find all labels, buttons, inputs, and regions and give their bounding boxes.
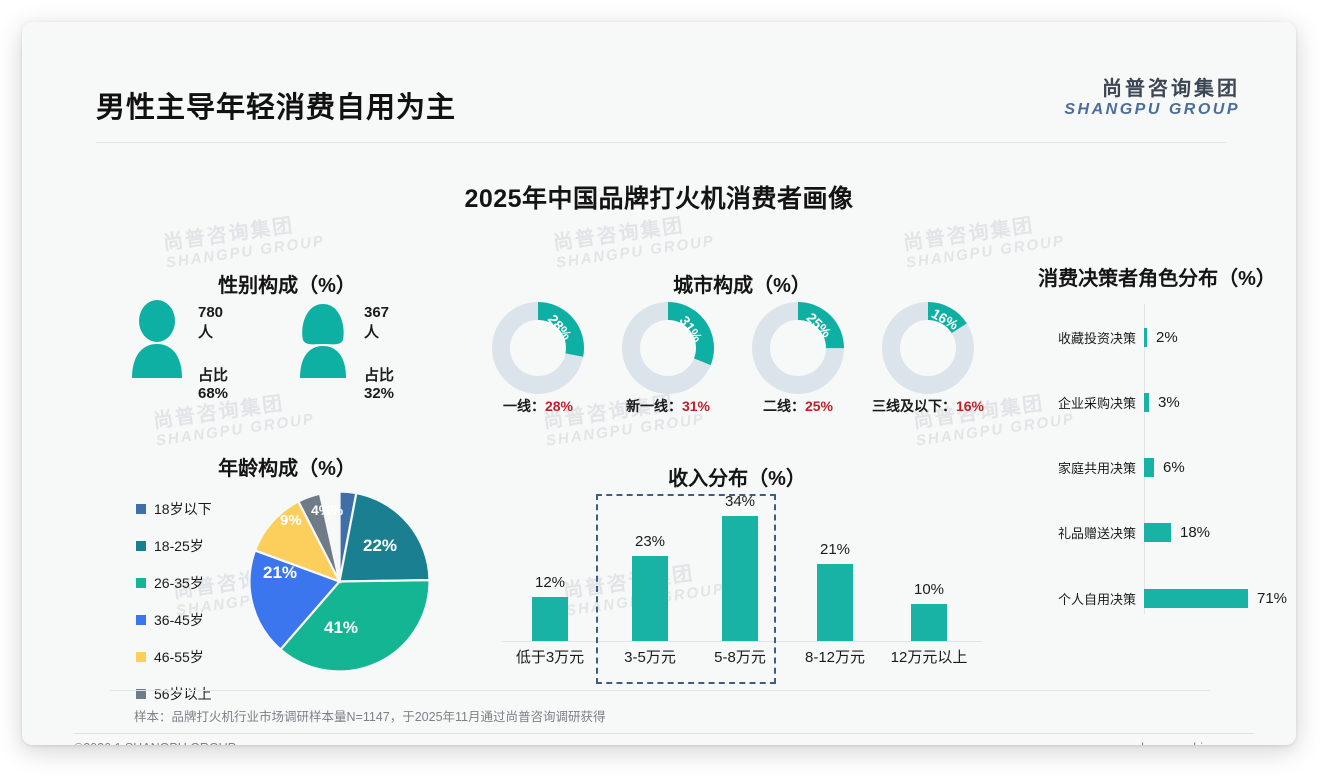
income-section-title: 收入分布（%）	[492, 462, 982, 491]
footer-copyright: ©2026.1 SHANGPU GROUP	[74, 741, 236, 745]
income-bar-rect	[911, 604, 947, 641]
roles-bar-label: 个人自用决策	[1022, 589, 1144, 608]
roles-bar-value: 6%	[1154, 459, 1185, 476]
roles-bar-value: 18%	[1171, 524, 1210, 541]
pie-label-36-45: 21%	[263, 563, 297, 583]
legend-label: 18岁以下	[154, 499, 212, 519]
gender-female-text: 367人 占比32%	[364, 304, 394, 402]
donut-caption-value: 31%	[682, 398, 710, 414]
roles-bar-label: 收藏投资决策	[1022, 328, 1144, 347]
income-bar-value: 12%	[502, 574, 598, 591]
donut-chart-newtier1: 31% 新一线：31%	[620, 300, 716, 396]
roles-section-title: 消费决策者角色分布（%）	[1012, 262, 1296, 291]
gender-section: 780人 占比68% 367人 占比32%	[122, 300, 462, 382]
male-silhouette-icon	[128, 300, 186, 378]
donut-chart-tier3: 16% 三线及以下：16%	[880, 300, 976, 396]
gender-male-text: 780人 占比68%	[198, 304, 228, 402]
donut-chart-tier1: 28% 一线：28%	[490, 300, 586, 396]
roles-bar-label: 企业采购决策	[1022, 393, 1144, 412]
city-donut-group: 28% 一线：28% 31% 新一线：31% 25% 二线：25%	[482, 300, 1002, 400]
slide-canvas: 尚普咨询集团 SHANGPU GROUP 尚普咨询集团 SHANGPU GROU…	[22, 22, 1296, 745]
footer-website[interactable]: www.shangpu-china.com	[1105, 741, 1244, 745]
pie-label-18-25: 22%	[363, 536, 397, 556]
legend-swatch-icon	[136, 578, 146, 588]
donut-caption-value: 28%	[545, 398, 573, 414]
gender-male-share: 占比68%	[198, 364, 228, 402]
watermark-en: SHANGPU GROUP	[545, 411, 706, 450]
roles-bar-label: 家庭共用决策	[1022, 458, 1144, 477]
legend-swatch-icon	[136, 652, 146, 662]
roles-bar-value: 71%	[1248, 590, 1287, 607]
watermark: 尚普咨询集团 SHANGPU GROUP	[162, 212, 326, 272]
income-bar-group: 34%	[692, 493, 788, 641]
income-bar-category: 12万元以上	[874, 646, 984, 667]
age-section-title: 年龄构成（%）	[122, 452, 452, 481]
income-bar-rect	[532, 597, 568, 641]
income-bar-value: 21%	[787, 541, 883, 558]
watermark: 尚普咨询集团 SHANGPU GROUP	[152, 390, 316, 450]
donut-caption-label: 二线：	[763, 398, 805, 414]
income-bar-value: 34%	[692, 493, 788, 510]
roles-bar-group: 家庭共用决策 6%	[1022, 454, 1296, 480]
roles-bar-group: 企业采购决策 3%	[1022, 389, 1296, 415]
gender-male-count: 780人	[198, 304, 228, 342]
female-silhouette-icon	[294, 300, 352, 378]
donut-caption-label: 新一线：	[626, 398, 682, 414]
gender-female-count: 367人	[364, 304, 394, 342]
roles-bar-value: 3%	[1149, 394, 1180, 411]
header-divider	[96, 142, 1226, 143]
page-title: 男性主导年轻消费自用为主	[96, 84, 456, 126]
watermark: 尚普咨询集团 SHANGPU GROUP	[552, 212, 716, 272]
legend-label: 18-25岁	[154, 536, 204, 556]
roles-bar-group: 礼品赠送决策 18%	[1022, 519, 1296, 545]
legend-item: 26-35岁	[136, 573, 212, 593]
legend-swatch-icon	[136, 504, 146, 514]
legend-label: 26-35岁	[154, 573, 204, 593]
donut-caption-value: 16%	[956, 398, 984, 414]
slide-header: 男性主导年轻消费自用为主 尚普咨询集团 SHANGPU GROUP	[22, 22, 1296, 122]
income-bar-group: 10%	[881, 581, 977, 641]
city-section-title: 城市构成（%）	[482, 269, 1002, 298]
watermark-en: SHANGPU GROUP	[555, 233, 716, 272]
age-pie-section: 18岁以下 18-25岁 26-35岁 36-45岁 46-55岁 56岁以上	[122, 487, 462, 677]
donut-caption-label: 一线：	[503, 398, 545, 414]
roles-bar-chart: 收藏投资决策 2% 企业采购决策 3% 家庭共用决策 6% 礼品赠送决策 18%…	[1022, 304, 1296, 624]
pie-label-under-18: 3%	[323, 502, 343, 518]
legend-item: 18岁以下	[136, 499, 212, 519]
footnote-divider	[110, 690, 1210, 691]
income-bar-group: 23%	[602, 533, 698, 641]
legend-swatch-icon	[136, 615, 146, 625]
watermark-cn: 尚普咨询集团	[162, 212, 324, 255]
pie-label-26-35: 41%	[324, 618, 358, 638]
pie-label-46-55: 9%	[280, 512, 302, 529]
legend-label: 46-55岁	[154, 647, 204, 667]
roles-bar-value: 2%	[1147, 329, 1178, 346]
watermark-cn: 尚普咨询集团	[902, 212, 1064, 255]
gender-female-share: 占比32%	[364, 364, 394, 402]
roles-bar-label: 礼品赠送决策	[1022, 523, 1144, 542]
legend-label: 36-45岁	[154, 610, 204, 630]
roles-bar-group: 收藏投资决策 2%	[1022, 324, 1296, 350]
income-bar-value: 23%	[602, 533, 698, 550]
donut-caption-label: 三线及以下：	[872, 398, 956, 414]
legend-item: 18-25岁	[136, 536, 212, 556]
footer-divider	[74, 733, 1254, 734]
income-bar-category: 低于3万元	[495, 646, 605, 667]
sample-footnote: 样本：品牌打火机行业市场调研样本量N=1147，于2025年11月通过尚普咨询调…	[134, 706, 606, 725]
income-bar-chart: 12% 低于3万元 23% 3-5万元 34% 5-8万元 21% 8-12万元…	[492, 494, 992, 684]
legend-item: 56岁以上	[136, 684, 212, 704]
legend-label: 56岁以上	[154, 684, 212, 704]
roles-bar-rect	[1144, 523, 1171, 542]
legend-swatch-icon	[136, 541, 146, 551]
income-bar-rect	[722, 516, 758, 641]
donut-caption-tier3: 三线及以下：16%	[848, 396, 1008, 416]
donut-caption-value: 25%	[805, 398, 833, 414]
income-bar-value: 10%	[881, 581, 977, 598]
income-bar-rect	[817, 564, 853, 641]
income-bar-group: 21%	[787, 541, 883, 641]
watermark-cn: 尚普咨询集团	[552, 212, 714, 255]
legend-item: 46-55岁	[136, 647, 212, 667]
brand-logo: 尚普咨询集团 SHANGPU GROUP	[1064, 78, 1240, 119]
infographic-title: 2025年中国品牌打火机消费者画像	[22, 179, 1296, 215]
roles-bar-rect	[1144, 458, 1154, 477]
income-bar-group: 12%	[502, 574, 598, 641]
age-legend: 18岁以下 18-25岁 26-35岁 36-45岁 46-55岁 56岁以上	[136, 499, 212, 721]
logo-cn: 尚普咨询集团	[1064, 78, 1240, 101]
legend-item: 36-45岁	[136, 610, 212, 630]
gender-section-title: 性别构成（%）	[122, 269, 452, 298]
watermark-en: SHANGPU GROUP	[165, 233, 326, 272]
watermark-en: SHANGPU GROUP	[155, 411, 316, 450]
roles-bar-group: 个人自用决策 71%	[1022, 585, 1296, 611]
income-bar-category: 5-8万元	[685, 646, 795, 667]
roles-bar-rect	[1144, 589, 1248, 608]
age-pie-chart: 22% 41% 21% 9% 4% 3%	[247, 489, 432, 674]
logo-en: SHANGPU GROUP	[1064, 101, 1240, 119]
income-bar-rect	[632, 556, 668, 641]
watermark-cn: 尚普咨询集团	[152, 390, 314, 433]
donut-chart-tier2: 25% 二线：25%	[750, 300, 846, 396]
